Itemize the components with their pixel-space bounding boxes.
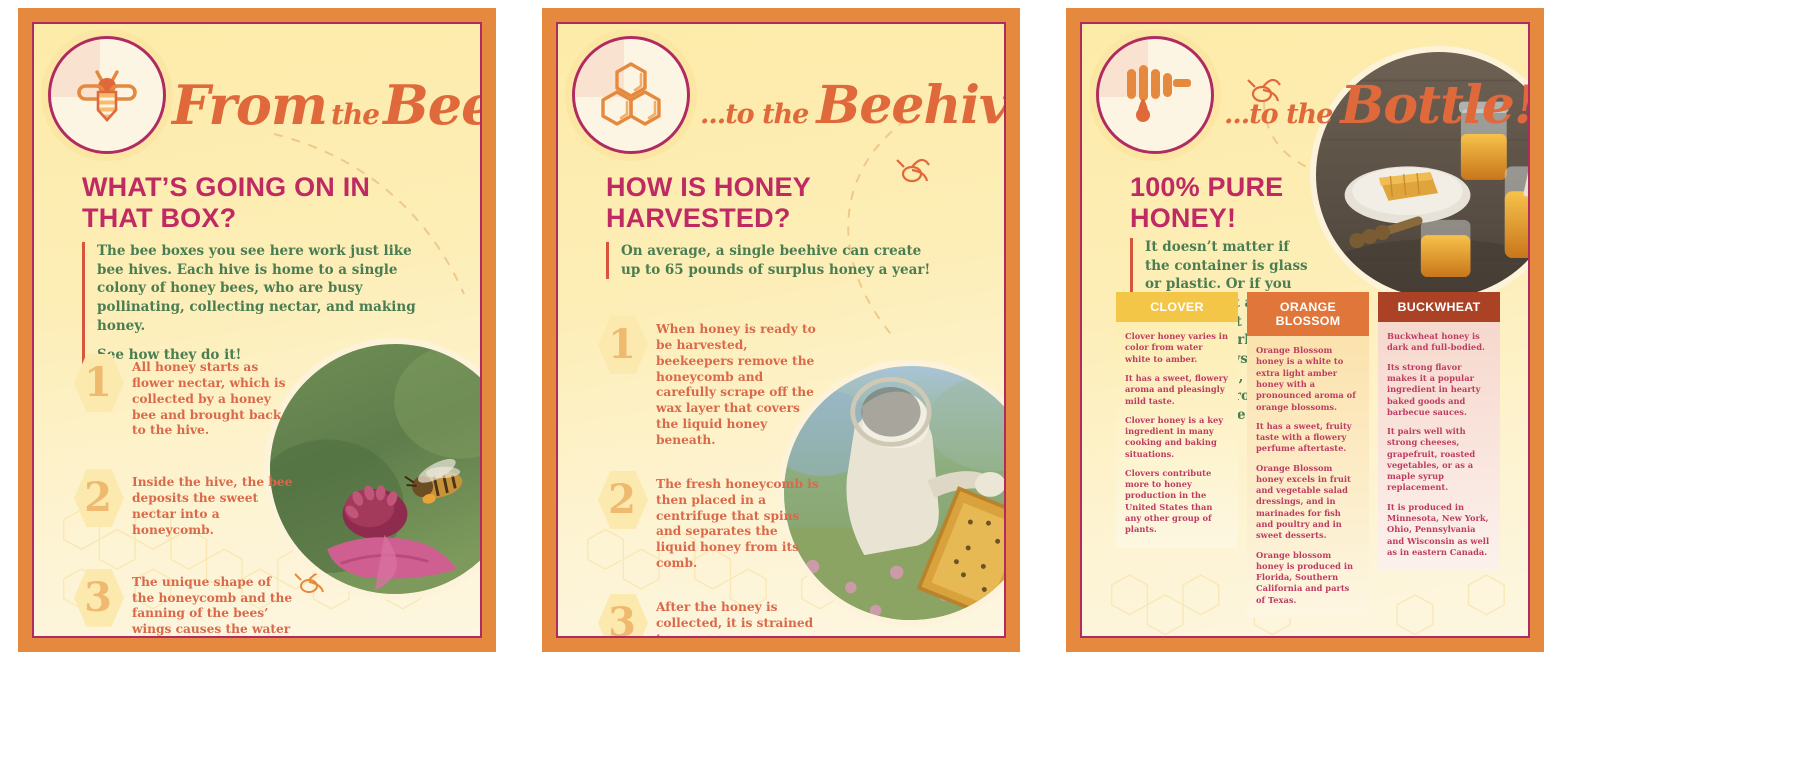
honey-variety-cards: CLOVER Clover honey varies in color from… [1116,292,1500,618]
card-buckwheat-body: Buckwheat honey is dark and full-bodied.… [1378,322,1500,570]
step-text: After the honey is collected, it is stra… [648,594,820,638]
step-hex-number: 3 [72,569,124,627]
card-paragraph: Clover honey varies in color from water … [1125,331,1229,365]
panel-2-inner: ...to theBeehive HOW IS HONEY HARVESTED?… [556,22,1006,638]
step-item: 3 The unique shape of the honeycomb and … [72,569,362,638]
honey-dipper-icon [1117,59,1193,131]
step-item: 1 When honey is ready to be harvested, b… [596,316,886,449]
script-word-bee: Bee [383,73,482,137]
card-clover-body: Clover honey varies in color from water … [1116,322,1238,548]
panel-2-headline: HOW IS HONEY HARVESTED? [606,172,906,235]
card-paragraph: Orange Blossom honey excels in fruit and… [1256,463,1360,542]
card-paragraph: It has a sweet, fruity taste with a flow… [1256,421,1360,455]
panel-2-steps: 1 When honey is ready to be harvested, b… [596,316,886,638]
panel-to-the-beehive: ...to theBeehive HOW IS HONEY HARVESTED?… [542,8,1020,652]
step-item: 2 Inside the hive, the bee deposits the … [72,469,362,538]
card-paragraph: Orange blossom honey is produced in Flor… [1256,550,1360,606]
card-clover-title: CLOVER [1116,292,1238,322]
step-item: 3 After the honey is collected, it is st… [596,594,886,638]
panel-2-script-title: ...to theBeehive [700,50,994,160]
card-buckwheat: BUCKWHEAT Buckwheat honey is dark and fu… [1378,292,1500,618]
step-item: 1 All honey starts as flower nectar, whi… [72,354,362,439]
step-hex-number: 1 [596,316,648,374]
script-word-from: From [172,73,327,137]
panel-1-headline: WHAT’S GOING ON IN THAT BOX? [82,172,382,235]
step-number: 3 [608,603,636,638]
honeycomb-icon [597,60,665,130]
step-text: Inside the hive, the bee deposits the sw… [124,469,296,538]
step-number: 3 [84,578,112,618]
script-lead-to-the: ...to the [1224,99,1332,130]
card-paragraph: Orange Blossom honey is a white to extra… [1256,345,1360,413]
panel-2-intro: On average, a single beehive can create … [606,242,936,279]
script-word-beehive: Beehive [808,75,1006,136]
card-paragraph: Clover honey is a key ingredient in many… [1125,415,1229,460]
script-word-the: the [327,98,383,131]
card-orange-blossom-body: Orange Blossom honey is a white to extra… [1247,336,1369,618]
card-paragraph: Its strong flavor makes it a popular ing… [1387,362,1491,418]
panel-from-the-bee: FromtheBee WHAT’S GOING ON IN THAT BOX? … [18,8,496,652]
panel-3-script-title: ...to theBottle! [1224,50,1518,160]
card-paragraph: It is produced in Minnesota, New York, O… [1387,502,1491,558]
step-number: 1 [608,325,636,365]
step-number: 2 [608,480,636,520]
step-number: 2 [84,478,112,518]
step-hex-number: 2 [72,469,124,527]
step-hex-number: 2 [596,471,648,529]
card-paragraph: It has a sweet, flowery aroma and pleasi… [1125,373,1229,407]
card-buckwheat-title: BUCKWHEAT [1378,292,1500,322]
step-hex-number: 3 [596,594,648,638]
card-orange-blossom-title: ORANGE BLOSSOM [1247,292,1369,336]
panel-2-intro-text: On average, a single beehive can create … [621,243,930,278]
panel-to-the-bottle: ...to theBottle! 100% PURE HONEY! It doe… [1066,8,1544,652]
step-text: All honey starts as flower nectar, which… [124,354,296,439]
badge-honeycomb [572,36,690,154]
bee-icon [71,59,143,131]
script-word-bottle: Bottle! [1332,75,1530,136]
panel-1-inner: FromtheBee WHAT’S GOING ON IN THAT BOX? … [32,22,482,638]
card-orange-blossom: ORANGE BLOSSOM Orange Blossom honey is a… [1247,292,1369,618]
step-text: The unique shape of the honeycomb and th… [124,569,296,638]
card-clover: CLOVER Clover honey varies in color from… [1116,292,1238,618]
step-hex-number: 1 [72,354,124,412]
panel-3-inner: ...to theBottle! 100% PURE HONEY! It doe… [1080,22,1530,638]
step-number: 1 [84,363,112,403]
card-paragraph: It pairs well with strong cheeses, grape… [1387,426,1491,494]
script-lead-to-the: ...to the [700,99,808,130]
infographic-board: FromtheBee WHAT’S GOING ON IN THAT BOX? … [0,0,1810,762]
step-text: The fresh honeycomb is then placed in a … [648,471,820,572]
panel-1-intro-text: The bee boxes you see here work just lik… [97,243,416,334]
card-paragraph: Buckwheat honey is dark and full-bodied. [1387,331,1491,354]
panel-1-script-title: FromtheBee [172,50,470,160]
panel-3-headline: 100% PURE HONEY! [1130,172,1320,235]
panel-1-intro: The bee boxes you see here work just lik… [82,242,434,365]
badge-bee [48,36,166,154]
step-item: 2 The fresh honeycomb is then placed in … [596,471,886,572]
step-text: When honey is ready to be harvested, bee… [648,316,820,449]
card-paragraph: Clovers contribute more to honey product… [1125,468,1229,536]
badge-honey-dipper [1096,36,1214,154]
panel-1-steps: 1 All honey starts as flower nectar, whi… [72,354,362,638]
